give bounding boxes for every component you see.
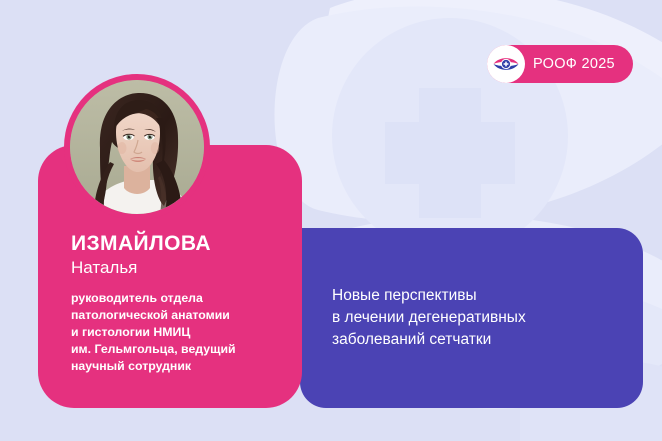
speaker-role: руководитель отдела патологической анато… [71, 290, 293, 375]
avatar-photo [70, 80, 204, 214]
speaker-info: ИЗМАЙЛОВА Наталья руководитель отдела па… [71, 231, 293, 375]
speaker-surname: ИЗМАЙЛОВА [71, 231, 293, 256]
topic-title: Новые перспективы в лечении дегенеративн… [300, 285, 550, 351]
event-badge[interactable]: РООФ 2025 [487, 45, 633, 83]
speaker-first-name: Наталья [71, 257, 293, 279]
badge-label: РООФ 2025 [533, 57, 615, 72]
avatar [64, 74, 210, 220]
slide-canvas: РООФ 2025 Новые перспективы в лечении де… [0, 0, 662, 441]
eye-logo-icon [487, 45, 525, 83]
topic-card: Новые перспективы в лечении дегенеративн… [300, 228, 643, 408]
